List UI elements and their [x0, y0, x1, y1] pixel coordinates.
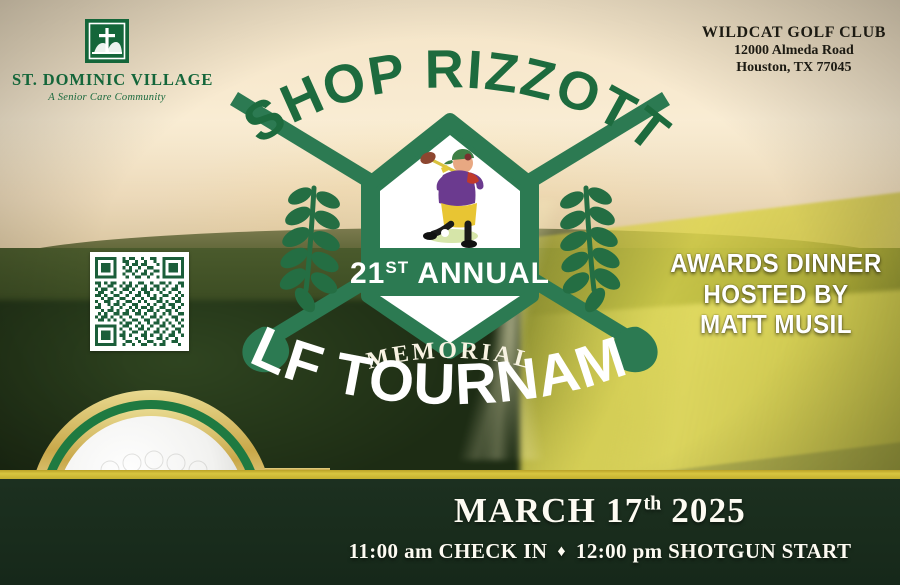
venue-street: 12000 Almeda Road: [702, 43, 886, 59]
organization-tagline: A Senior Care Community: [12, 92, 202, 103]
badge-edition: 21ST ANNUAL: [350, 257, 550, 290]
cross-and-trees-emblem-icon: [84, 18, 130, 64]
qr-code-icon: [95, 257, 184, 346]
separator-diamond-icon: ♦: [547, 543, 576, 560]
qr-code[interactable]: [90, 252, 189, 351]
event-check-in: 11:00 am CHECK IN: [349, 539, 548, 563]
banner-gold-edge: [0, 470, 900, 479]
venue-info: WILDCAT GOLF CLUB 12000 Almeda Road Hous…: [702, 24, 886, 76]
organization-name: ST. DOMINIC VILLAGE: [12, 70, 202, 90]
organization-logo[interactable]: ST. DOMINIC VILLAGE A Senior Care Commun…: [12, 18, 202, 103]
event-month-day: MARCH 17: [454, 491, 643, 530]
venue-name: WILDCAT GOLF CLUB: [702, 24, 886, 42]
awards-line-2: HOSTED BY: [668, 279, 884, 310]
awards-line-1: AWARDS DINNER: [668, 248, 884, 279]
venue-city-state-zip: Houston, TX 77045: [702, 60, 886, 76]
event-shotgun-start: 12:00 pm SHOTGUN START: [576, 539, 851, 563]
event-times: 11:00 am CHECK IN♦12:00 pm SHOTGUN START: [300, 539, 900, 564]
awards-line-3: MATT MUSIL: [668, 309, 884, 340]
svg-text:21ST ANNUAL: 21ST ANNUAL: [350, 257, 550, 290]
flyer-poster: BISHOP RIZZOTTO 21ST ANNUAL MEMORIAL GOL…: [0, 0, 900, 585]
event-date: MARCH 17th 2025: [300, 479, 900, 531]
awards-dinner-block: AWARDS DINNER HOSTED BY MATT MUSIL: [668, 248, 884, 340]
event-year: 2025: [671, 491, 746, 530]
event-date-banner: MARCH 17th 2025 11:00 am CHECK IN♦12:00 …: [0, 479, 900, 585]
event-day-suffix: th: [643, 492, 661, 514]
